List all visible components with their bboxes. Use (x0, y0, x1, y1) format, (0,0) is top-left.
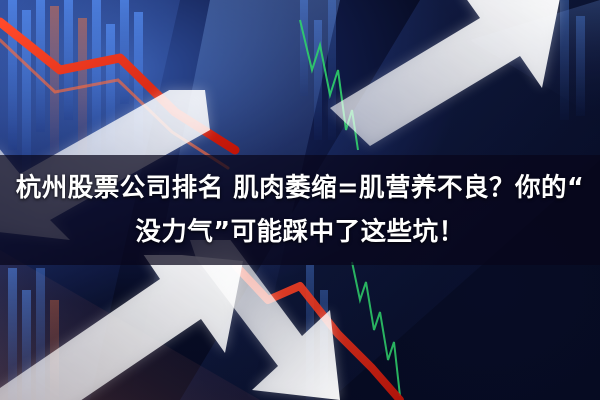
promo-banner: 杭州股票公司排名 肌肉萎缩=肌营养不良？你的“ 没力气”可能踩中了这些坑！ (0, 0, 600, 400)
caption-overlay: 杭州股票公司排名 肌肉萎缩=肌营养不良？你的“ 没力气”可能踩中了这些坑！ (0, 155, 600, 265)
caption-line-1: 杭州股票公司排名 肌肉萎缩=肌营养不良？你的“ (16, 166, 585, 210)
up-right-arrow-icon (330, 0, 590, 150)
caption-line-2: 没力气”可能踩中了这些坑！ (135, 210, 464, 254)
